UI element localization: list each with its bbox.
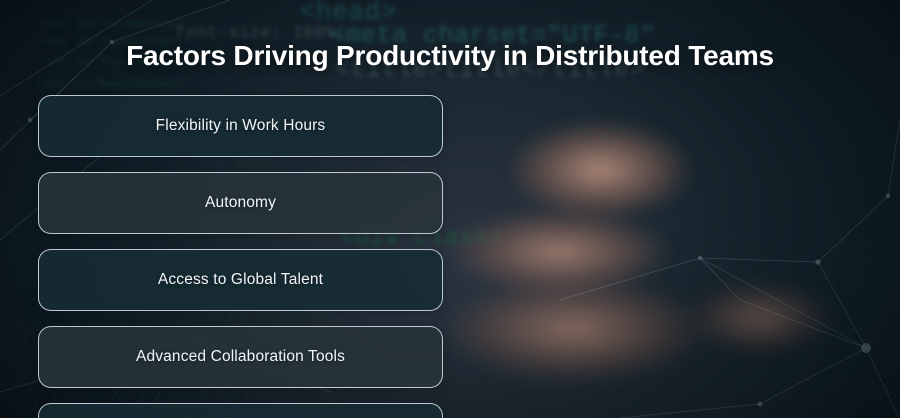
factor-card[interactable]: Advanced Collaboration Tools bbox=[38, 326, 443, 388]
factor-card-grid: Flexibility in Work HoursAutonomyAccess … bbox=[38, 95, 862, 418]
factor-card-label: Autonomy bbox=[205, 194, 276, 212]
infographic-root: <head>font-size: 100%;<meta charset="UTF… bbox=[0, 0, 900, 418]
factor-card[interactable]: Access to Global Talent bbox=[38, 249, 443, 311]
factor-card[interactable]: Work Life Balance bbox=[38, 403, 443, 418]
factor-card-label: Advanced Collaboration Tools bbox=[136, 348, 345, 366]
page-title: Factors Driving Productivity in Distribu… bbox=[0, 40, 900, 72]
content-area: Factors Driving Productivity in Distribu… bbox=[0, 0, 900, 418]
factor-card-label: Flexibility in Work Hours bbox=[156, 117, 326, 135]
factor-card[interactable]: Autonomy bbox=[38, 172, 443, 234]
factor-card[interactable]: Flexibility in Work Hours bbox=[38, 95, 443, 157]
factor-card-label: Access to Global Talent bbox=[158, 271, 323, 289]
